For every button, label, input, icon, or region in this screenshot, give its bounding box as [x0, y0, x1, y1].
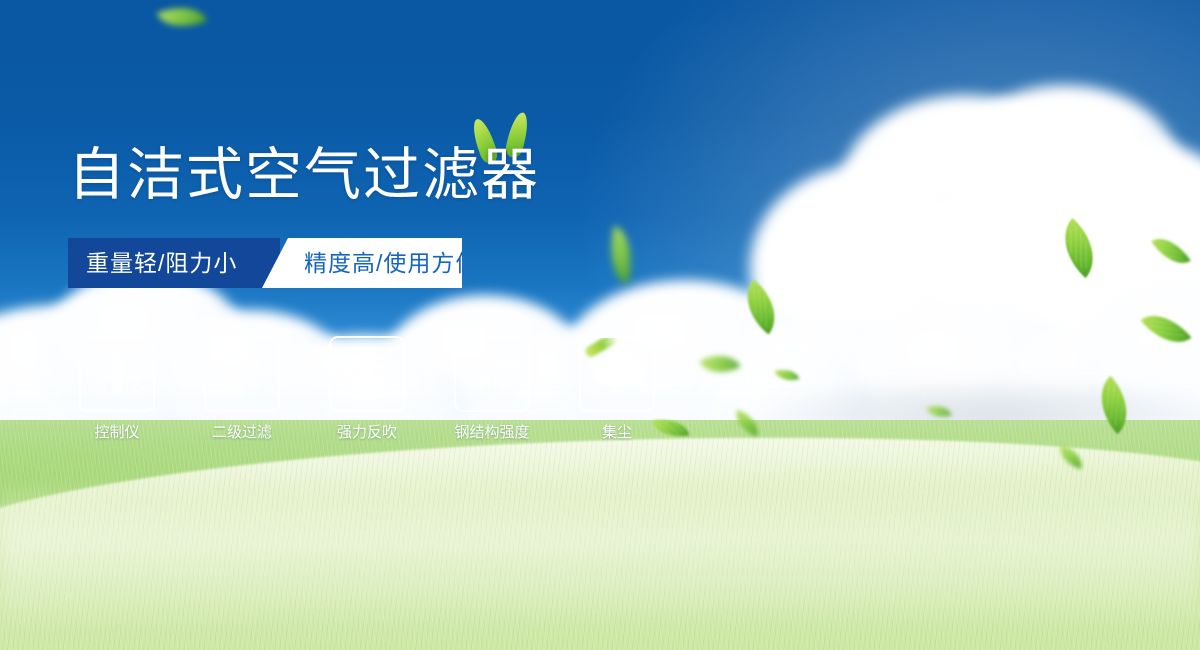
pressure-value-icon: 0.6～0.8 MPA: [204, 336, 280, 412]
pleated-filter-icon: [329, 336, 405, 412]
tagline-left-badge: 重量轻/阻力小: [68, 238, 280, 288]
feature-item-dust[interactable]: Air 集尘: [579, 336, 655, 442]
steel-material: 钢板: [463, 374, 521, 393]
feature-label: 强力反吹: [337, 423, 397, 442]
grass-vignette: [0, 420, 1200, 650]
air-label: Air: [586, 386, 648, 398]
dial-off-label: OFF: [135, 386, 149, 393]
feature-label: 二级过滤: [212, 423, 272, 442]
feature-label: 钢结构强度: [454, 423, 529, 442]
feature-label: 集尘: [602, 423, 632, 442]
page-title: 自洁式空气过滤器: [68, 143, 540, 207]
feature-label: 控制仪: [94, 423, 139, 442]
pressure-range: 0.6～0.8: [213, 356, 272, 373]
feature-item-steel[interactable]: 3～8MM 钢板 钢结构强度: [454, 336, 530, 442]
dial-on-label: NO: [85, 369, 96, 376]
feature-list: NO OFF 控制仪 0.6～0.8 MPA 二级过滤: [79, 336, 655, 442]
tagline-right-badge: 精度高/使用方便: [262, 238, 462, 288]
tagline-right-text: 精度高/使用方便: [304, 247, 479, 279]
pleats-graphic: [341, 346, 393, 402]
feature-item-control-dial[interactable]: NO OFF 控制仪: [79, 336, 155, 442]
feature-item-pressure[interactable]: 0.6～0.8 MPA 二级过滤: [204, 336, 280, 442]
tagline-bar: 重量轻/阻力小 精度高/使用方便: [68, 238, 462, 288]
dial-graphic: NO OFF: [86, 345, 148, 403]
grass-field: [0, 420, 1200, 650]
air-dust-cloud-icon: Air: [579, 336, 655, 412]
pressure-unit: MPA: [213, 374, 272, 393]
aircloud-graphic: Air: [586, 346, 648, 402]
steel-thickness: 3～8MM: [463, 356, 521, 373]
control-dial-icon: NO OFF: [79, 336, 155, 412]
feature-item-backblow[interactable]: 强力反吹: [329, 336, 405, 442]
steel-plate-icon: 3～8MM 钢板: [454, 336, 530, 412]
tagline-left-text: 重量轻/阻力小: [86, 247, 237, 279]
product-banner: 自洁式空气过滤器 重量轻/阻力小 精度高/使用方便: [0, 0, 1200, 650]
